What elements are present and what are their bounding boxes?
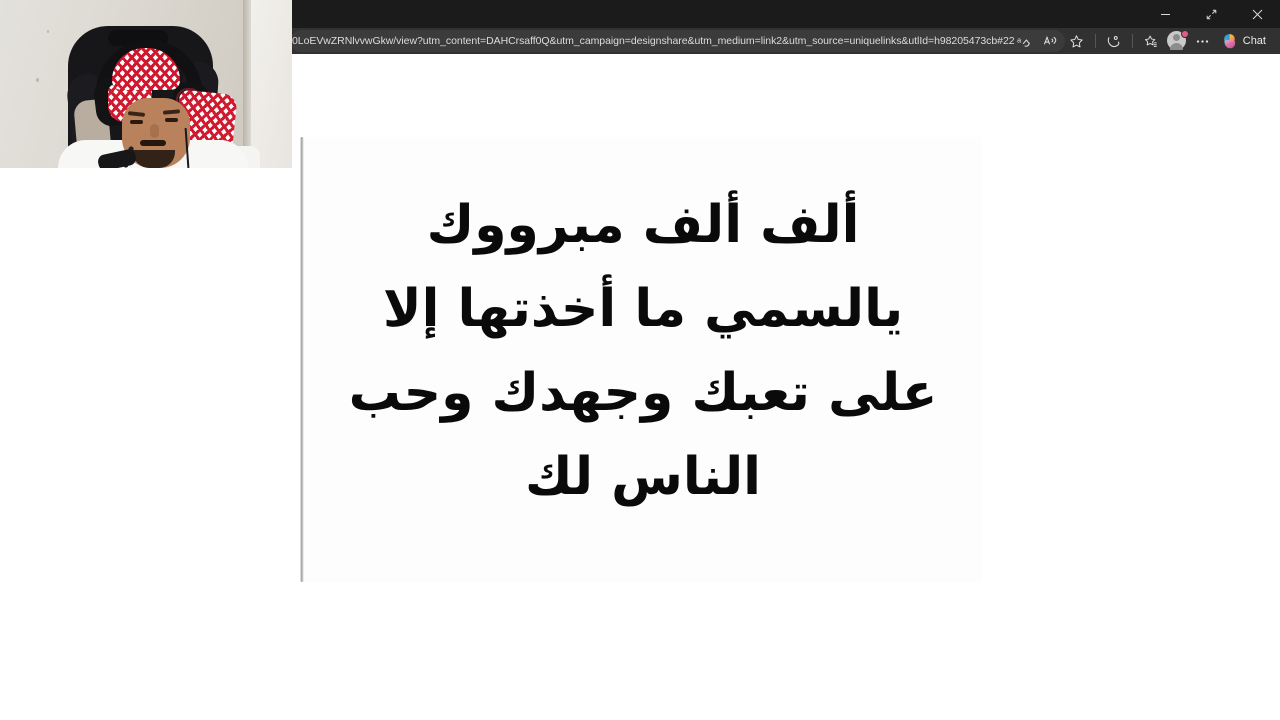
toolbar-divider-1 (1095, 34, 1096, 48)
notification-badge (1181, 30, 1189, 38)
webcam-wall-speck (36, 78, 39, 82)
restore-down-button[interactable] (1188, 0, 1234, 28)
arabic-line-2: يالسمي ما أخذتها إلا (304, 267, 982, 351)
arabic-line-1: ألف ألف مبرووك (304, 183, 982, 267)
webcam-overlay (0, 0, 292, 168)
minimize-button[interactable] (1142, 0, 1188, 28)
arabic-line-4: الناس لك (304, 435, 982, 519)
split-screen-icon[interactable] (1102, 30, 1126, 52)
screen-root: ألف ألف مبرووك يالسمي ما أخذتها إلا على … (0, 0, 1280, 720)
collections-icon[interactable] (1139, 30, 1163, 52)
favorite-star-icon[interactable] (1065, 30, 1089, 52)
webcam-wall-right (251, 0, 292, 168)
settings-more-icon[interactable] (1191, 30, 1215, 52)
slide-arabic-text: ألف ألف مبرووك يالسمي ما أخذتها إلا على … (304, 183, 982, 519)
close-button[interactable] (1234, 0, 1280, 28)
profile-avatar-icon[interactable] (1165, 30, 1189, 52)
translate-icon[interactable]: a (1013, 30, 1037, 52)
toolbar-actions: a (1013, 28, 1274, 54)
copilot-chat-button[interactable]: Chat (1217, 30, 1274, 52)
webcam-wall-corner (243, 0, 251, 168)
webcam-wall-speck (47, 30, 49, 33)
design-slide[interactable]: ألف ألف مبرووك يالسمي ما أخذتها إلا على … (300, 137, 982, 582)
address-bar-url[interactable]: 0LoEVwZRNlvvwGkw/view?utm_content=DAHCrs… (292, 35, 1015, 47)
webcam-eye-right (165, 118, 178, 122)
webcam-moustache (140, 140, 166, 146)
arabic-line-3: على تعبك وجهدك وحب (304, 351, 982, 435)
avatar-body-shape (1170, 43, 1183, 50)
toolbar-divider-2 (1132, 34, 1133, 48)
webcam-nose (150, 124, 159, 138)
slide-canvas[interactable]: ألف ألف مبرووك يالسمي ما أخذتها إلا على … (304, 137, 982, 582)
webcam-eye-left (130, 120, 143, 124)
copilot-icon (1221, 33, 1238, 50)
avatar-head-shape (1173, 34, 1180, 41)
copilot-chat-label: Chat (1243, 35, 1266, 47)
avatar[interactable] (1167, 31, 1187, 51)
read-aloud-icon[interactable] (1039, 30, 1063, 52)
address-bar[interactable]: 0LoEVwZRNlvvwGkw/view?utm_content=DAHCrs… (290, 30, 1065, 52)
window-controls (1142, 0, 1280, 28)
svg-text:a: a (1017, 35, 1022, 44)
